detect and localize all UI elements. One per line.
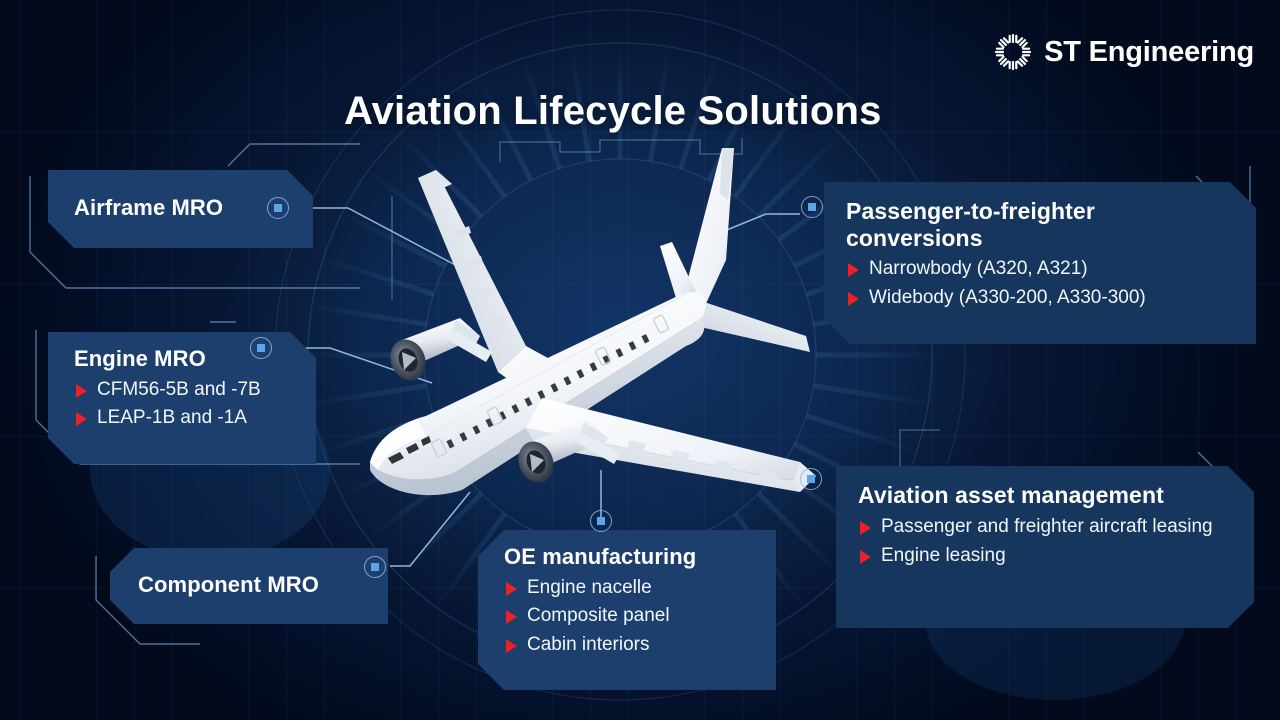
node-square-icon xyxy=(807,475,815,483)
brand-name: ST Engineering xyxy=(1044,36,1254,69)
node-oe-manufacturing[interactable] xyxy=(590,510,612,532)
callout-title: OE manufacturing xyxy=(504,544,758,570)
callout-aviation-asset-management[interactable]: Aviation asset management Passenger and … xyxy=(836,466,1254,628)
callout-title: Passenger-to-freighter conversions xyxy=(846,198,1236,251)
node-component-mro[interactable] xyxy=(364,556,386,578)
node-passenger-to-freighter[interactable] xyxy=(801,196,823,218)
node-square-icon xyxy=(274,204,282,212)
callout-list: Engine nacelle Composite panel Cabin int… xyxy=(504,575,758,658)
callout-list: Narrowbody (A320, A321) Widebody (A330-2… xyxy=(846,256,1236,311)
node-square-icon xyxy=(808,203,816,211)
callout-oe-manufacturing[interactable]: OE manufacturing Engine nacelle Composit… xyxy=(478,530,776,690)
list-item: Engine leasing xyxy=(858,543,1234,569)
node-square-icon xyxy=(371,563,379,571)
callout-list: CFM56-5B and -7B LEAP-1B and -1A xyxy=(74,377,294,432)
callout-title: Component MRO xyxy=(138,572,319,598)
callout-list: Passenger and freighter aircraft leasing… xyxy=(858,514,1234,569)
node-airframe-mro[interactable] xyxy=(267,197,289,219)
node-engine-mro[interactable] xyxy=(250,337,272,359)
list-item: Narrowbody (A320, A321) xyxy=(846,256,1236,282)
brand-logo[interactable]: ST Engineering xyxy=(993,32,1254,72)
node-aviation-asset-management[interactable] xyxy=(800,468,822,490)
starburst-icon xyxy=(993,32,1033,72)
aircraft-svg xyxy=(330,140,850,510)
callout-title: Aviation asset management xyxy=(858,482,1234,509)
list-item: Engine nacelle xyxy=(504,575,758,601)
page-title: Aviation Lifecycle Solutions xyxy=(344,89,882,134)
list-item: Widebody (A330-200, A330-300) xyxy=(846,285,1236,311)
callout-passenger-to-freighter[interactable]: Passenger-to-freighter conversions Narro… xyxy=(824,182,1256,344)
list-item: CFM56-5B and -7B xyxy=(74,377,294,403)
node-square-icon xyxy=(597,517,605,525)
callout-component-mro[interactable]: Component MRO xyxy=(110,548,388,624)
list-item: LEAP-1B and -1A xyxy=(74,405,294,431)
callout-engine-mro[interactable]: Engine MRO CFM56-5B and -7B LEAP-1B and … xyxy=(48,332,316,464)
infographic-canvas: Airframe MRO Engine MRO CFM56-5B and -7B… xyxy=(0,0,1280,720)
list-item: Cabin interiors xyxy=(504,632,758,658)
list-item: Passenger and freighter aircraft leasing xyxy=(858,514,1234,540)
node-square-icon xyxy=(257,344,265,352)
list-item: Composite panel xyxy=(504,603,758,629)
aircraft-illustration xyxy=(330,140,850,510)
callout-title: Airframe MRO xyxy=(74,195,223,221)
